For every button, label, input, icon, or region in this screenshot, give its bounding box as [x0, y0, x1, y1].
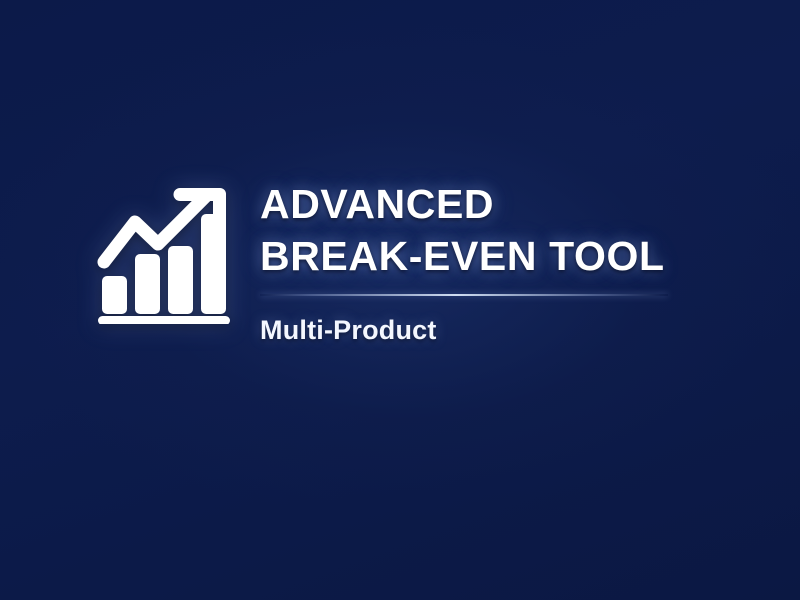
brand-text-column: ADVANCED BREAK-EVEN TOOL Multi-Product	[260, 176, 668, 347]
chart-bar-3	[168, 246, 193, 314]
app-title-line-1: ADVANCED	[260, 178, 494, 230]
app-title-line-2: BREAK-EVEN TOOL	[260, 230, 665, 282]
title-divider	[260, 294, 668, 296]
chart-bar-2	[135, 254, 160, 314]
splash-screen: ADVANCED BREAK-EVEN TOOL Multi-Product	[0, 0, 800, 600]
chart-bar-1	[102, 276, 127, 314]
chart-baseline	[98, 316, 230, 324]
brand-lockup: ADVANCED BREAK-EVEN TOOL Multi-Product	[96, 176, 668, 347]
app-subtitle: Multi-Product	[260, 313, 437, 347]
growth-chart-icon	[96, 182, 234, 324]
